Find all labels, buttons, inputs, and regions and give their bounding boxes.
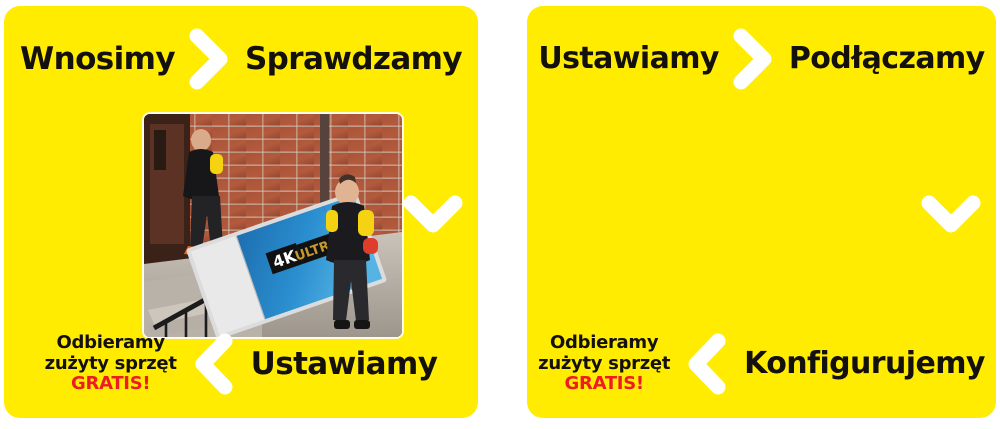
chevron-right-icon [187, 28, 233, 90]
steps-row-top-left: Wnosimy Sprawdzamy [4, 28, 478, 90]
chevron-left-icon [191, 332, 237, 396]
step-label-konfigurujemy: Konfigurujemy [744, 349, 985, 379]
step-label-podlaczamy: Podłączamy [789, 44, 985, 74]
recycle-free-label: GRATIS! [45, 374, 177, 395]
recycle-line-2: zużyty sprzęt [45, 353, 177, 374]
step-label-ustawiamy-top: Ustawiamy [538, 44, 718, 74]
chevron-down-icon [402, 192, 464, 238]
recycle-free-label: GRATIS! [538, 374, 670, 395]
steps-row-bottom-right: Odbieramy zużyty sprzęt GRATIS! Konfigur… [527, 318, 996, 410]
step-label-ustawiamy: Ustawiamy [251, 349, 438, 380]
recycle-line-1: Odbieramy [57, 332, 165, 353]
step-label-sprawdzamy: Sprawdzamy [245, 44, 462, 75]
panel-installation-steps: Ustawiamy Podłączamy [527, 6, 996, 418]
chevron-left-icon [684, 332, 730, 396]
recycle-line-1: Odbieramy [550, 332, 658, 353]
recycle-line-2: zużyty sprzęt [538, 353, 670, 374]
chevron-down-icon [920, 192, 982, 238]
delivery-photo: 4K ULTRA HD [144, 114, 402, 337]
chevron-right-icon [731, 28, 777, 90]
steps-row-top-right: Ustawiamy Podłączamy [527, 28, 996, 90]
step-label-wnosimy: Wnosimy [20, 44, 175, 75]
recycle-note: Odbieramy zużyty sprzęt GRATIS! [538, 333, 670, 396]
steps-row-bottom-left: Odbieramy zużyty sprzęt GRATIS! Ustawiam… [4, 318, 478, 410]
service-steps-infographic: Wnosimy Sprawdzamy [0, 0, 1000, 429]
recycle-note: Odbieramy zużyty sprzęt GRATIS! [45, 333, 177, 396]
panel-delivery-steps: Wnosimy Sprawdzamy [4, 6, 478, 418]
